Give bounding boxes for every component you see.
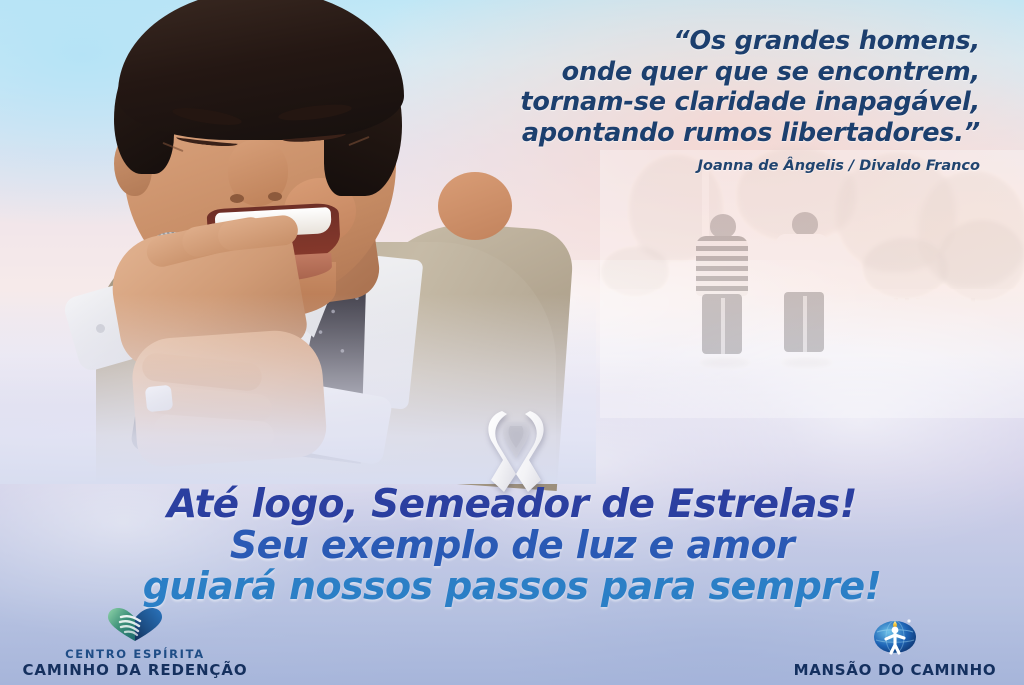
centro-espirita-line-1: CENTRO ESPÍRITA xyxy=(10,648,260,661)
centro-espirita-line-2: CAMINHO DA REDENÇÃO xyxy=(10,661,260,679)
headline-line-3: guiará nossos passos para sempre! xyxy=(0,566,1024,607)
quote-line-1: “Os grandes homens, xyxy=(420,26,980,57)
quote-attribution: Joanna de Ângelis / Divaldo Franco xyxy=(420,157,980,175)
quote-line-4: apontando rumos libertadores.” xyxy=(420,118,980,149)
mansao-do-caminho-logo: MANSÃO DO CAMINHO xyxy=(780,613,1010,679)
quote-line-2: onde quer que se encontrem, xyxy=(420,57,980,88)
headline-line-2: Seu exemplo de luz e amor xyxy=(0,525,1024,566)
globe-with-figure-holding-flame-icon xyxy=(780,613,1010,659)
headline-block: Até logo, Semeador de Estrelas! Seu exem… xyxy=(0,484,1024,607)
heart-hands-icon xyxy=(10,608,260,646)
mansao-do-caminho-label: MANSÃO DO CAMINHO xyxy=(780,661,1010,679)
headline-line-1: Até logo, Semeador de Estrelas! xyxy=(0,484,1024,525)
centro-espirita-logo: CENTRO ESPÍRITA CAMINHO DA REDENÇÃO xyxy=(10,608,260,679)
two-people-walking-away-faded-photo xyxy=(600,150,1024,418)
quote-line-3: tornam-se claridade inapagável, xyxy=(420,87,980,118)
quote-block: “Os grandes homens, onde quer que se enc… xyxy=(420,26,980,175)
memorial-poster: “Os grandes homens, onde quer que se enc… xyxy=(0,0,1024,685)
